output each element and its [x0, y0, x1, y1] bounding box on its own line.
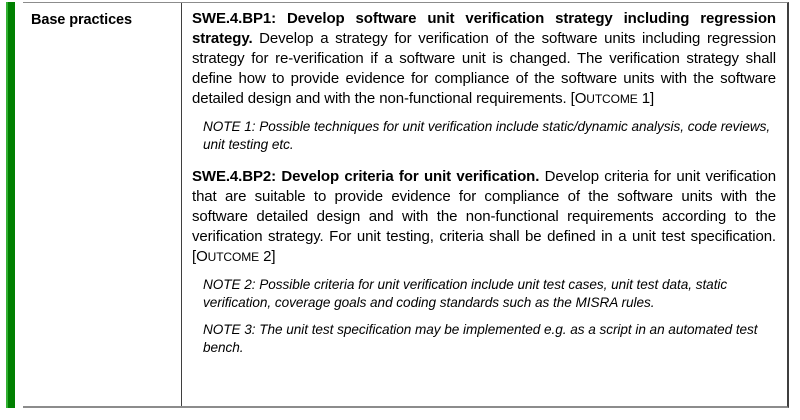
- outcome-reference-2: [Outcome 2]: [192, 248, 275, 265]
- note-paragraph-1: NOTE 1: Possible techniques for unit ver…: [192, 118, 776, 154]
- practice-heading-bp2: SWE.4.BP2: Develop criteria for unit ver…: [192, 168, 539, 185]
- outcome-word-2: utcome: [208, 250, 259, 264]
- outcome-bracket-close-1: 1]: [638, 90, 654, 107]
- row-label-text: Base practices: [31, 11, 175, 29]
- base-practices-table: Base practices SWE.4.BP1: Develop softwa…: [23, 2, 789, 408]
- note-paragraph-3: NOTE 3: The unit test specification may …: [192, 321, 776, 357]
- green-accent-bar: [6, 2, 15, 408]
- outcome-bracket-open-1: [O: [571, 90, 587, 107]
- outcome-word-1: utcome: [586, 92, 637, 106]
- outcome-bracket-open-2: [O: [192, 248, 208, 265]
- note-paragraph-2: NOTE 2: Possible criteria for unit verif…: [192, 276, 776, 312]
- table-cell-content: SWE.4.BP1: Develop software unit verific…: [182, 3, 787, 406]
- outcome-bracket-close-2: 2]: [259, 248, 275, 265]
- practice-paragraph-bp1: SWE.4.BP1: Develop software unit verific…: [192, 9, 776, 109]
- practice-paragraph-bp2: SWE.4.BP2: Develop criteria for unit ver…: [192, 167, 776, 267]
- practice-body-bp1: Develop a strategy for verification of t…: [192, 30, 776, 107]
- document-page: Base practices SWE.4.BP1: Develop softwa…: [0, 0, 800, 420]
- table-cell-row-label: Base practices: [23, 3, 182, 406]
- outcome-reference-1: [Outcome 1]: [571, 90, 654, 107]
